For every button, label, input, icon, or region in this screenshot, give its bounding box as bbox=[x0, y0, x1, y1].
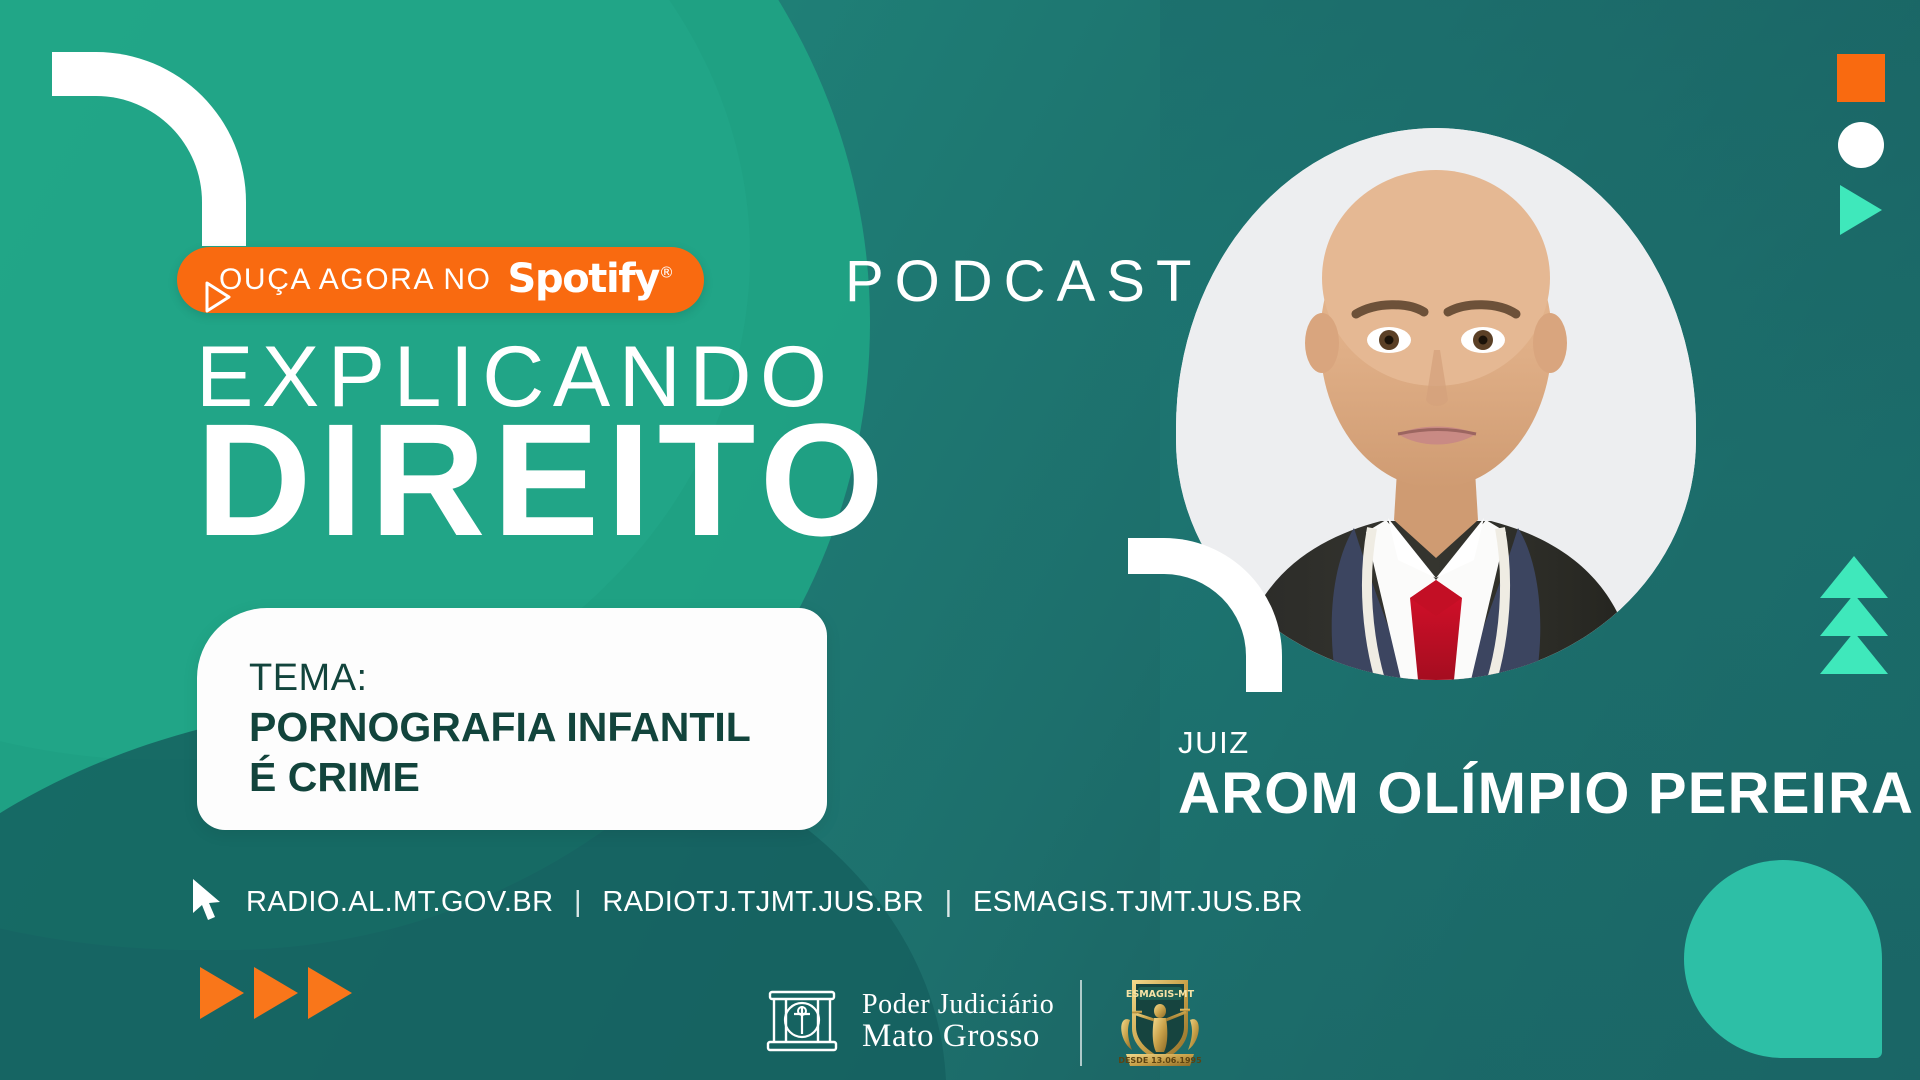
speaker-role: JUIZ bbox=[1178, 725, 1250, 761]
mint-triangle-right-icon bbox=[1840, 185, 1882, 235]
theme-title-line1: PORNOGRAFIA INFANTIL bbox=[249, 705, 827, 751]
judiciary-logo-line2: Mato Grosso bbox=[862, 1020, 1054, 1054]
white-circle-icon bbox=[1838, 122, 1884, 168]
spotify-cta-label: OUÇA AGORA NO bbox=[219, 263, 492, 297]
judiciary-temple-emblem-icon bbox=[760, 978, 844, 1067]
mint-triangle-stack bbox=[1820, 556, 1888, 670]
orange-square-icon bbox=[1837, 54, 1885, 102]
judiciary-logo-line1: Poder Judiciário bbox=[862, 991, 1054, 1020]
registered-mark: ® bbox=[659, 264, 674, 282]
mouse-cursor-icon bbox=[190, 877, 224, 923]
link-radio-al[interactable]: RADIO.AL.MT.GOV.BR bbox=[246, 886, 553, 918]
link-radiotj[interactable]: RADIOTJ.TJMT.JUS.BR bbox=[602, 886, 924, 918]
footer-logos: Poder Judiciário Mato Grosso ESMAGIS-MT bbox=[760, 968, 1212, 1077]
orange-triangle-right-icon bbox=[200, 967, 244, 1019]
judiciary-logo: Poder Judiciário Mato Grosso bbox=[760, 978, 1054, 1067]
corner-circle-decoration bbox=[1684, 860, 1882, 1058]
website-links: RADIO.AL.MT.GOV.BR | RADIOTJ.TJMT.JUS.BR… bbox=[246, 886, 1303, 919]
speaker-name: AROM OLÍMPIO PEREIRA bbox=[1178, 760, 1914, 827]
mint-triangle-up-icon bbox=[1820, 556, 1888, 598]
link-separator: | bbox=[933, 886, 965, 918]
mint-triangle-up-icon bbox=[1820, 632, 1888, 674]
svg-text:ESMAGIS-MT: ESMAGIS-MT bbox=[1126, 989, 1195, 1000]
orange-arrow-group bbox=[200, 967, 352, 1019]
orange-triangle-right-icon bbox=[254, 967, 298, 1019]
orange-triangle-right-icon bbox=[308, 967, 352, 1019]
theme-card: TEMA: PORNOGRAFIA INFANTIL É CRIME bbox=[197, 608, 827, 830]
link-esmagis[interactable]: ESMAGIS.TJMT.JUS.BR bbox=[973, 886, 1303, 918]
mint-triangle-up-icon bbox=[1820, 594, 1888, 636]
footer-divider bbox=[1080, 980, 1082, 1066]
svg-text:DESDE 13.06.1995: DESDE 13.06.1995 bbox=[1119, 1056, 1203, 1065]
theme-label: TEMA: bbox=[249, 656, 827, 701]
spotify-wordmark: Spotify® bbox=[508, 256, 674, 302]
page-title-line2: DIREITO bbox=[196, 400, 891, 560]
link-separator: | bbox=[562, 886, 594, 918]
podcast-promo-graphic: OUÇA AGORA NO Spotify® PODCAST EXPLICAND… bbox=[0, 0, 1920, 1080]
spotify-listen-button[interactable]: OUÇA AGORA NO Spotify® bbox=[177, 247, 704, 313]
esmagis-shield-icon: ESMAGIS-MT DESDE 13.06.1995 bbox=[1108, 968, 1212, 1077]
podcast-label: PODCAST bbox=[845, 248, 1202, 315]
theme-title-line2: É CRIME bbox=[249, 755, 827, 801]
